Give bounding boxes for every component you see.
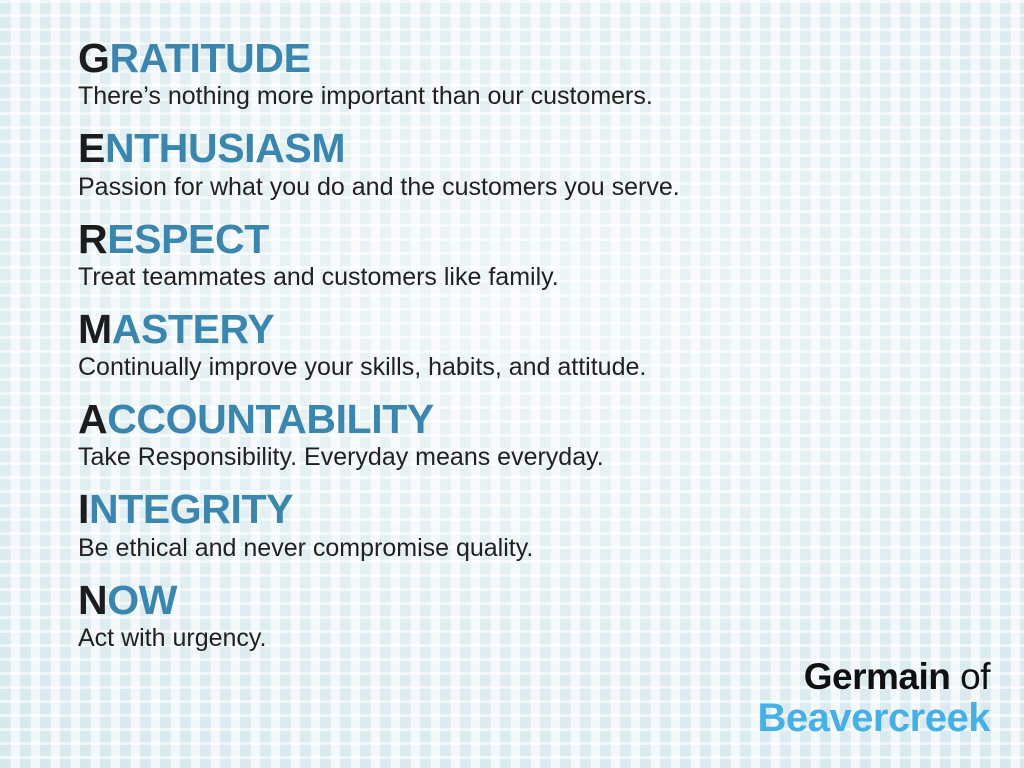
value-heading-now: NOW [78, 578, 1024, 622]
value-description-gratitude: There’s nothing more important than our … [78, 82, 1024, 110]
value-heading-rest: NTEGRITY [89, 486, 293, 532]
value-description-now: Act with urgency. [78, 624, 1024, 652]
value-description-accountability: Take Responsibility. Everyday means ever… [78, 443, 1024, 471]
logo-line-primary: Germain of [758, 658, 991, 695]
value-heading-rest: CCOUNTABILITY [107, 396, 434, 442]
logo-location: Beavercreek [758, 698, 991, 738]
value-heading-rest: RATITUDE [110, 35, 311, 81]
value-initial: N [78, 577, 107, 623]
value-block-enthusiasm: ENTHUSIASM Passion for what you do and t… [78, 126, 1024, 200]
value-heading-rest: ASTERY [112, 306, 274, 352]
value-block-gratitude: GRATITUDE There’s nothing more important… [78, 36, 1024, 110]
value-description-respect: Treat teammates and customers like famil… [78, 263, 1024, 291]
value-heading-enthusiasm: ENTHUSIASM [78, 126, 1024, 170]
value-description-mastery: Continually improve your skills, habits,… [78, 353, 1024, 381]
values-list: GRATITUDE There’s nothing more important… [0, 0, 1024, 652]
logo-brand: Germain [804, 656, 951, 697]
value-initial: I [78, 486, 89, 532]
value-block-integrity: INTEGRITY Be ethical and never compromis… [78, 487, 1024, 561]
value-heading-rest: OW [107, 577, 177, 623]
value-block-mastery: MASTERY Continually improve your skills,… [78, 307, 1024, 381]
logo-connector-text: of [960, 656, 990, 697]
value-heading-accountability: ACCOUNTABILITY [78, 397, 1024, 441]
value-initial: E [78, 125, 105, 171]
value-block-respect: RESPECT Treat teammates and customers li… [78, 217, 1024, 291]
value-heading-rest: ESPECT [107, 216, 269, 262]
value-block-accountability: ACCOUNTABILITY Take Responsibility. Ever… [78, 397, 1024, 471]
value-initial: A [78, 396, 107, 442]
values-poster: GRATITUDE There’s nothing more important… [0, 0, 1024, 768]
value-initial: M [78, 306, 112, 352]
value-heading-gratitude: GRATITUDE [78, 36, 1024, 80]
value-description-enthusiasm: Passion for what you do and the customer… [78, 173, 1024, 201]
dealership-logo: Germain of Beavercreek [758, 658, 991, 738]
value-heading-respect: RESPECT [78, 217, 1024, 261]
value-description-integrity: Be ethical and never compromise quality. [78, 534, 1024, 562]
value-heading-rest: NTHUSIASM [105, 125, 345, 171]
value-initial: G [78, 35, 110, 81]
value-heading-mastery: MASTERY [78, 307, 1024, 351]
value-block-now: NOW Act with urgency. [78, 578, 1024, 652]
value-initial: R [78, 216, 107, 262]
logo-connector [950, 656, 960, 697]
value-heading-integrity: INTEGRITY [78, 487, 1024, 531]
